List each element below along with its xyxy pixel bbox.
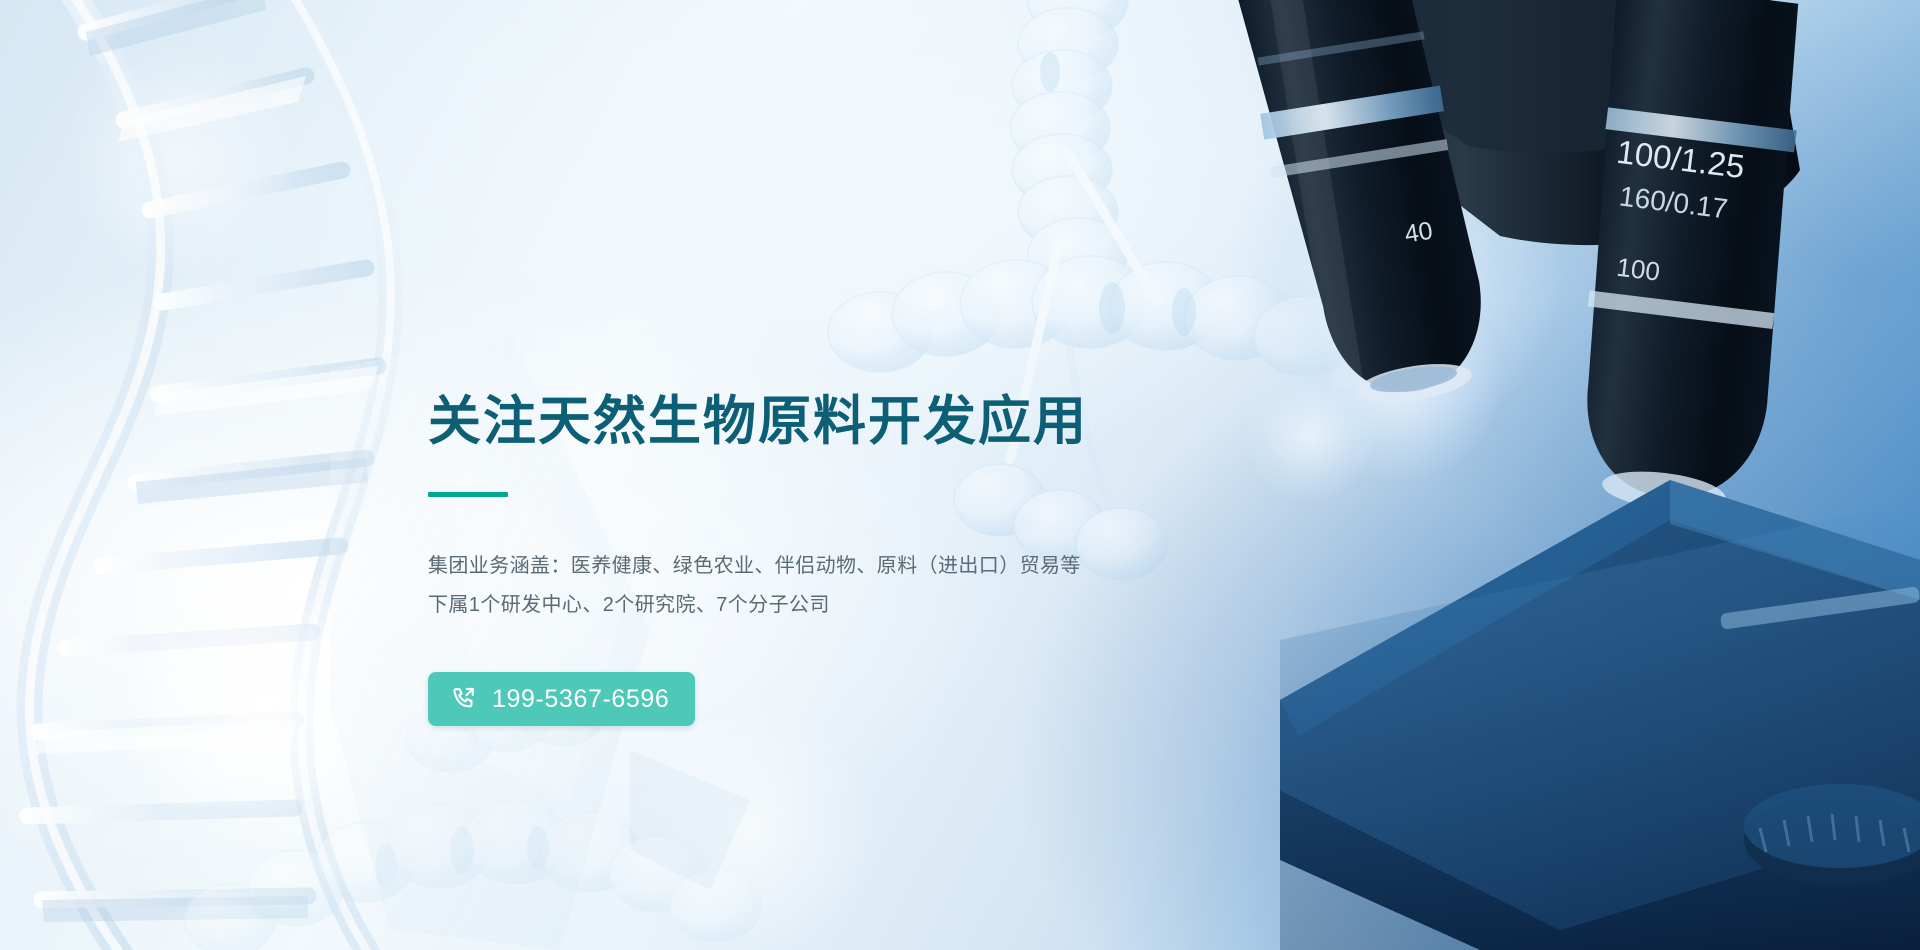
description-line-1: 集团业务涵盖：医养健康、绿色农业、伴侣动物、原料（进出口）贸易等: [428, 547, 1328, 586]
hero-banner: 40 100/1.25 160/0.17 100: [0, 0, 1920, 950]
description-line-2: 下属1个研发中心、2个研究院、7个分子公司: [428, 586, 1328, 625]
accent-divider: [428, 492, 508, 497]
hero-description: 集团业务涵盖：医养健康、绿色农业、伴侣动物、原料（进出口）贸易等 下属1个研发中…: [428, 547, 1328, 625]
page-title: 关注天然生物原料开发应用: [428, 392, 1328, 452]
phone-number-label: 199-5367-6596: [492, 687, 669, 712]
phone-outgoing-icon: [450, 685, 478, 713]
phone-cta-button[interactable]: 199-5367-6596: [428, 672, 695, 726]
hero-content: 关注天然生物原料开发应用 集团业务涵盖：医养健康、绿色农业、伴侣动物、原料（进出…: [428, 392, 1328, 726]
